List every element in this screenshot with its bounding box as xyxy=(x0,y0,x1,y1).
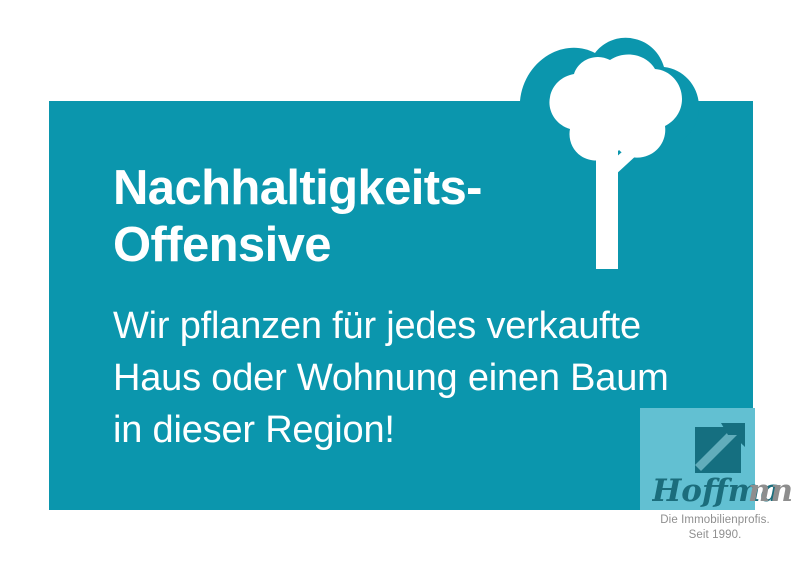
arrow-up-right-icon xyxy=(695,421,747,473)
hoffmann-logo: Hoffma nn Die Immobilienprofis. Seit 199… xyxy=(640,408,800,558)
tagline-line-1: Die Immobilienprofis. xyxy=(640,513,790,528)
body-line-2: Haus oder Wohnung einen Baum xyxy=(113,352,713,404)
headline-line-2: Offensive xyxy=(113,217,583,274)
tagline-line-2: Seit 1990. xyxy=(640,528,790,543)
sustainability-poster: Nachhaltigkeits- Offensive Wir pflanzen … xyxy=(0,0,800,564)
body-line-1: Wir pflanzen für jedes verkaufte xyxy=(113,300,713,352)
logo-tagline: Die Immobilienprofis. Seit 1990. xyxy=(640,513,790,543)
body-line-3: in dieser Region! xyxy=(113,404,713,456)
poster-body-text: Wir pflanzen für jedes verkaufte Haus od… xyxy=(113,300,713,456)
logo-wordmark: Hoffma nn xyxy=(652,468,800,512)
poster-headline: Nachhaltigkeits- Offensive xyxy=(113,160,583,274)
svg-text:nn: nn xyxy=(748,473,793,509)
headline-line-1: Nachhaltigkeits- xyxy=(113,160,583,217)
